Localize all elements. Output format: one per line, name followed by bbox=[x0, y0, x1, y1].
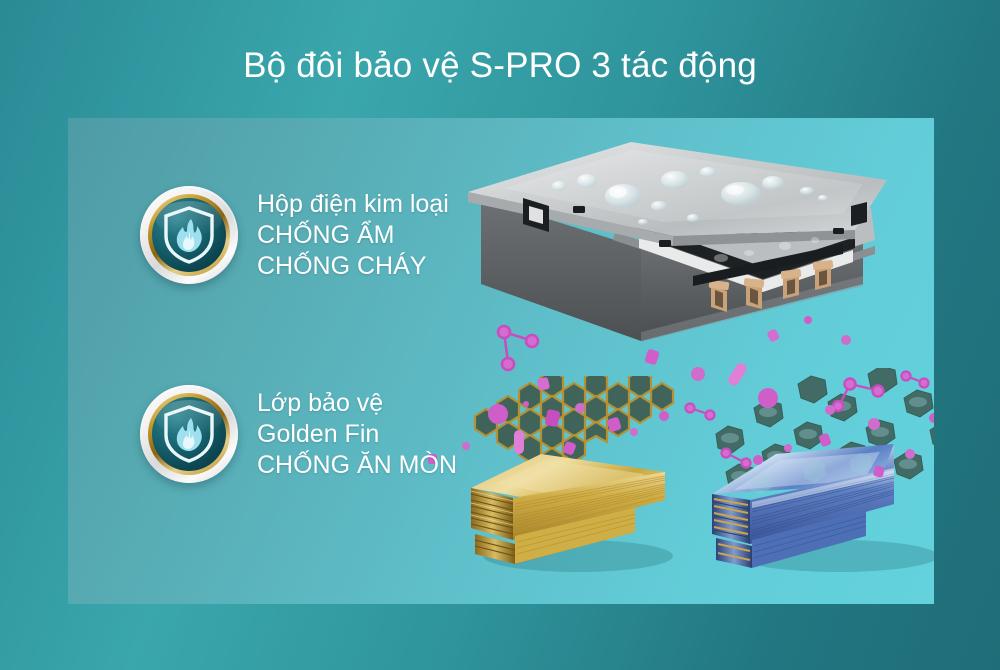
feature-item-golden-fin: Lớp bảo vệ Golden Fin CHỐNG ĂN MÒN bbox=[140, 385, 457, 483]
feature-1-line-3: CHỐNG CHÁY bbox=[257, 251, 449, 282]
feature-2-line-2: Golden Fin bbox=[257, 419, 457, 450]
feature-item-moisture-fire: Hộp điện kim loại CHỐNG ẨM CHỐNG CHÁY bbox=[140, 186, 449, 284]
feature-2-line-1: Lớp bảo vệ bbox=[257, 388, 457, 419]
shield-flame-glyph bbox=[162, 206, 216, 264]
ordinary-blue-fin-illustration bbox=[698, 368, 934, 593]
shield-flame-glyph bbox=[162, 405, 216, 463]
fin-laminations bbox=[471, 488, 515, 564]
illustration-panel: Hộp điện kim loại CHỐNG ẨM CHỐNG CHÁY Lớ… bbox=[68, 118, 934, 604]
metal-electrical-box-illustration bbox=[463, 136, 893, 351]
fire-shield-icon bbox=[140, 186, 238, 284]
feature-1-line-2: CHỐNG ẨM bbox=[257, 220, 449, 251]
fire-shield-icon bbox=[140, 385, 238, 483]
page-title: Bộ đôi bảo vệ S-PRO 3 tác động bbox=[0, 46, 1000, 86]
feature-2-text: Lớp bảo vệ Golden Fin CHỐNG ĂN MÒN bbox=[257, 388, 457, 481]
golden-fin-illustration bbox=[453, 376, 693, 591]
fin-laminations bbox=[712, 494, 752, 568]
feature-2-line-3: CHỐNG ĂN MÒN bbox=[257, 450, 457, 481]
feature-1-line-1: Hộp điện kim loại bbox=[257, 189, 449, 220]
feature-1-text: Hộp điện kim loại CHỐNG ẨM CHỐNG CHÁY bbox=[257, 189, 449, 282]
